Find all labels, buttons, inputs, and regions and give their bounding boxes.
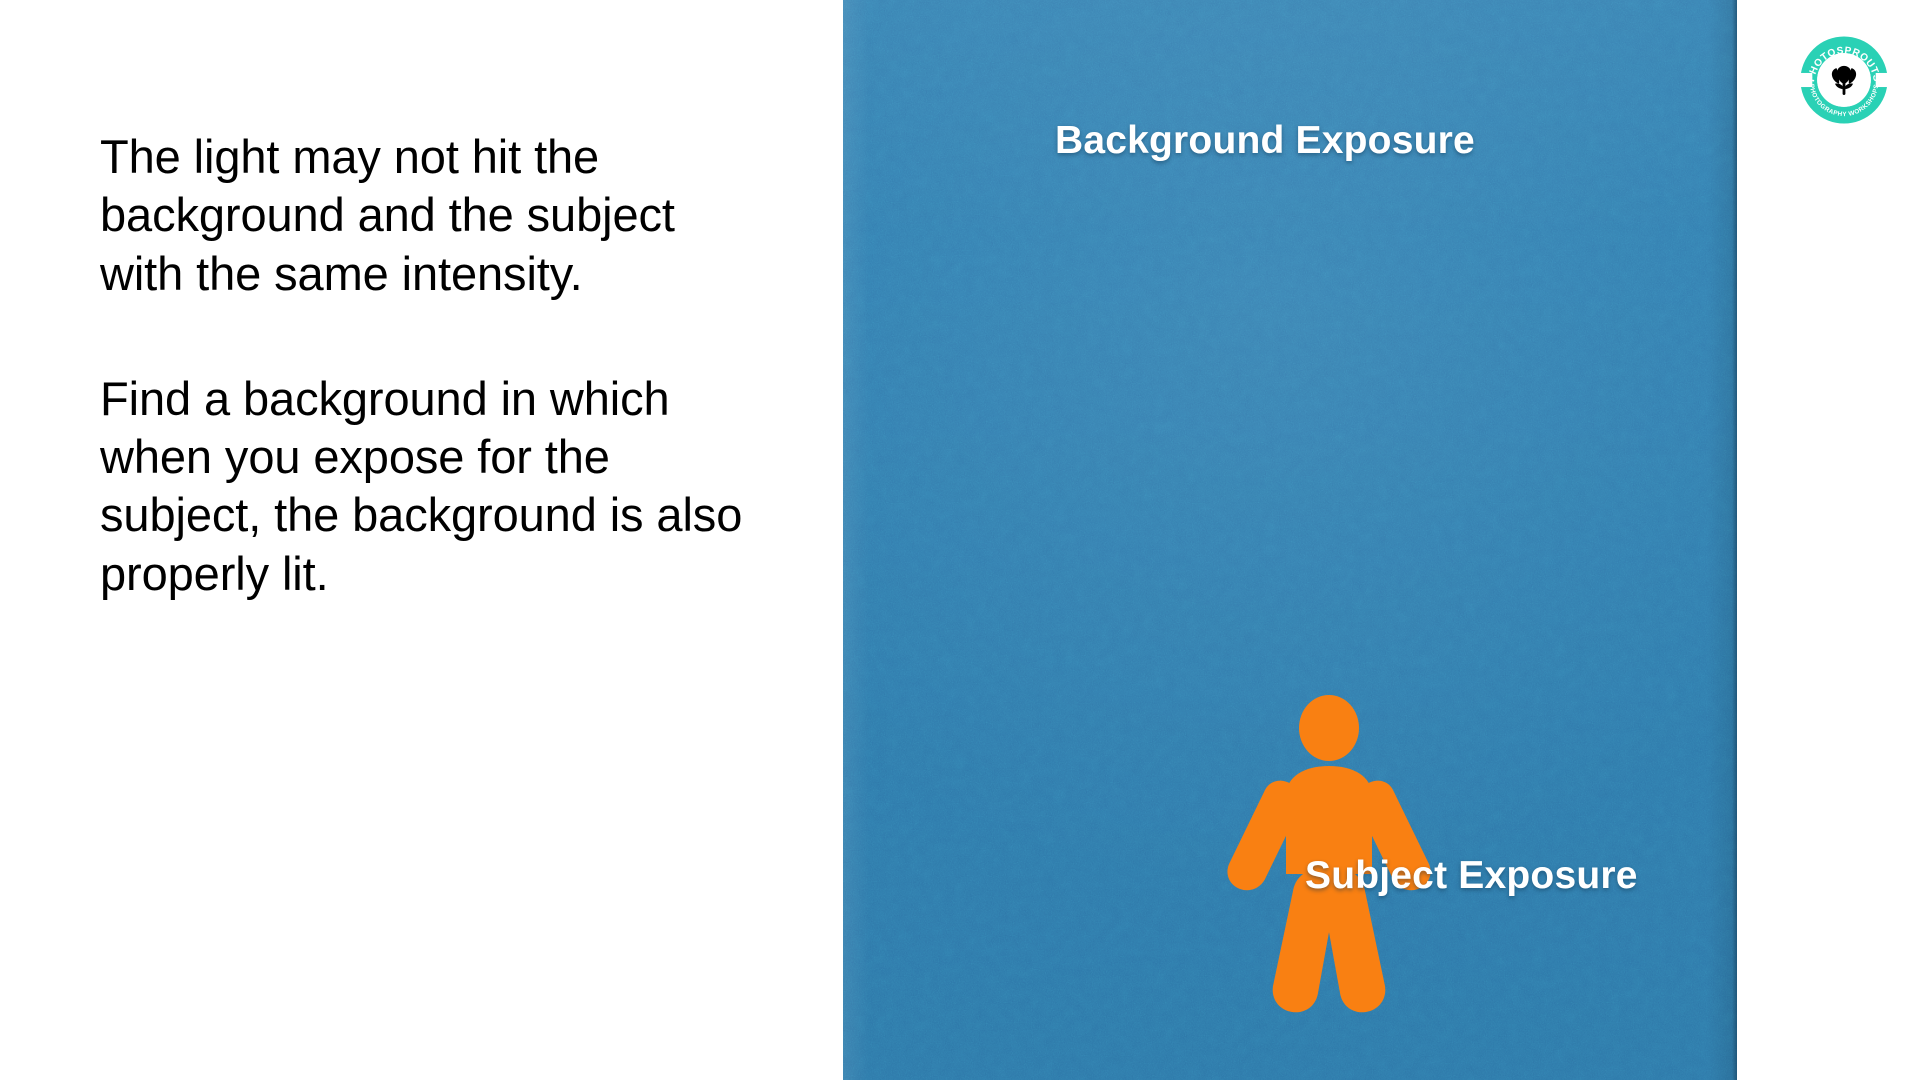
background-exposure-label: Background Exposure [1055, 119, 1475, 163]
backdrop-right-edge-shadow [1732, 0, 1737, 1080]
body-paragraph-2: Find a background in which when you expo… [100, 370, 760, 603]
body-paragraph-1: The light may not hit the background and… [100, 128, 760, 303]
body-text-column: The light may not hit the background and… [100, 128, 760, 603]
photosprouts-logo: PHOTOSPROUTS PHOTOGRAPHY WORKSHOPS [1800, 36, 1888, 124]
subject-exposure-label: Subject Exposure [1305, 854, 1638, 898]
